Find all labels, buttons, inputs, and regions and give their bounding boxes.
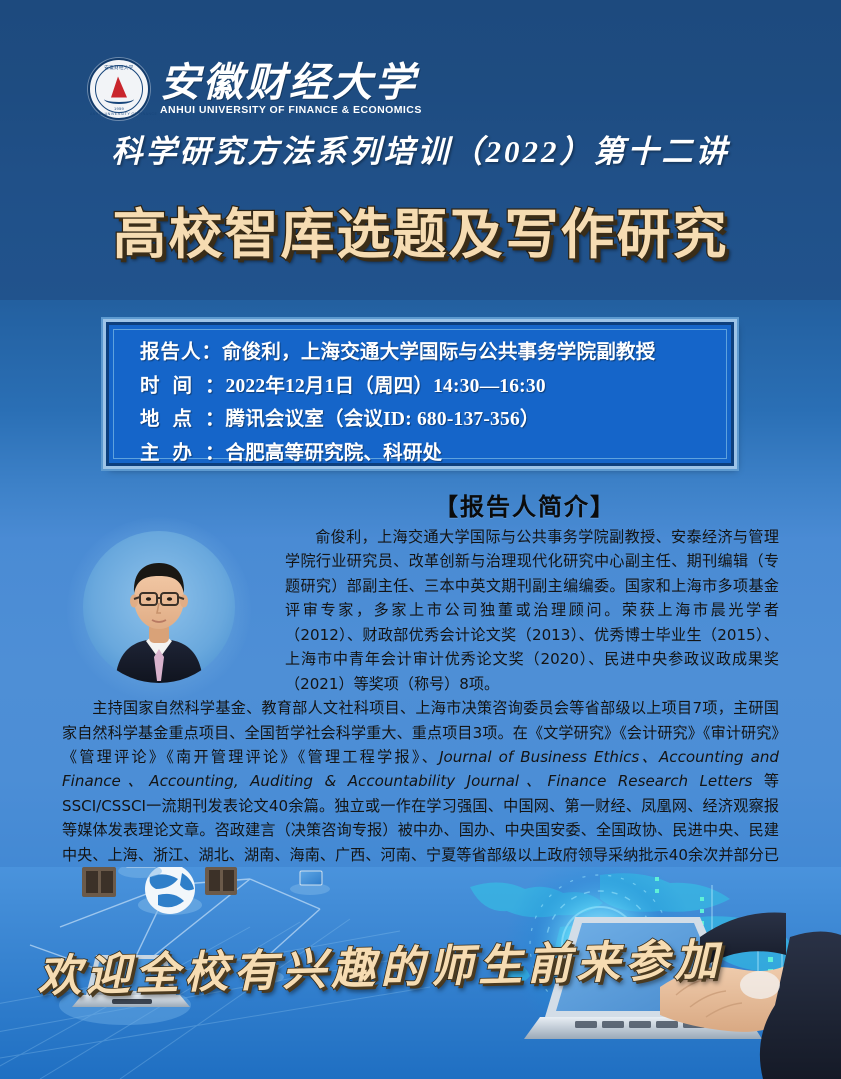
page-title: 高校智库选题及写作研究 <box>0 190 841 269</box>
bio-section-heading: 【报告人简介】 <box>295 487 755 522</box>
detail-label-organizer: 主办 <box>140 444 205 464</box>
university-crest-icon: 安徽财经大学 1959 ANHUI UNIVERSITY OF FINANCE <box>88 58 150 120</box>
bio-paragraph-2: 主持国家自然科学基金、教育部人文社科项目、上海市决策咨询委员会等省部级以上项目7… <box>62 696 779 892</box>
detail-value-speaker: 俞俊利，上海交通大学国际与公共事务学院副教授 <box>222 343 655 363</box>
detail-value-organizer: 合肥高等研究院、科研处 <box>226 444 443 464</box>
detail-row-speaker: 报告人 ： 俞俊利，上海交通大学国际与公共事务学院副教授 <box>140 343 726 363</box>
portrait-text-spacer <box>62 525 285 675</box>
series-title: 科学研究方法系列培训（2022）第十二讲 <box>0 126 841 171</box>
server-node-2 <box>205 867 237 895</box>
crest-year-text: 1959 <box>114 106 124 111</box>
event-details-inner: 报告人 ： 俞俊利，上海交通大学国际与公共事务学院副教授 时间 ： 2022年1… <box>113 329 727 459</box>
detail-colon-organizer: ： <box>205 444 225 464</box>
tech-network-graphic <box>0 867 841 1079</box>
detail-row-time: 时间 ： 2022年12月1日（周四）14:30—16:30 <box>140 377 726 397</box>
server-node <box>82 867 116 897</box>
detail-value-time: 2022年12月1日（周四）14:30—16:30 <box>226 377 546 397</box>
university-name-en: ANHUI UNIVERSITY OF FINANCE & ECONOMICS <box>160 105 422 116</box>
crest-arc-top-text: 安徽财经大学 <box>90 65 148 71</box>
university-logo: 安徽财经大学 1959 ANHUI UNIVERSITY OF FINANCE … <box>88 58 422 120</box>
event-details-box: 报告人 ： 俞俊利，上海交通大学国际与公共事务学院副教授 时间 ： 2022年1… <box>106 322 734 466</box>
speaker-bio: 俞俊利，上海交通大学国际与公共事务学院副教授、安泰经济与管理学院行业研究员、改革… <box>62 525 779 892</box>
detail-colon-speaker: ： <box>202 343 222 363</box>
university-name-block: 安徽财经大学 ANHUI UNIVERSITY OF FINANCE & ECO… <box>160 63 422 116</box>
crest-arc-bottom-text: ANHUI UNIVERSITY OF FINANCE <box>90 112 148 116</box>
detail-colon-time: ： <box>205 377 225 397</box>
lecture-poster: 安徽财经大学 1959 ANHUI UNIVERSITY OF FINANCE … <box>0 0 841 1079</box>
detail-label-speaker: 报告人 <box>140 343 202 363</box>
detail-label-location: 地点 <box>140 410 205 430</box>
bottom-tech-illustration <box>0 867 841 1079</box>
detail-row-location: 地点 ： 腾讯会议室（会议ID: 680-137-356） <box>140 410 726 430</box>
bio-paragraph-1-text: 上海交通大学国际与公共事务学院副教授、安泰经济与管理学院行业研究员、改革创新与治… <box>285 528 779 693</box>
detail-label-time: 时间 <box>140 377 205 397</box>
university-name-cn: 安徽财经大学 <box>160 63 422 103</box>
detail-value-location: 腾讯会议室（会议ID: 680-137-356） <box>226 410 540 430</box>
poster-header: 安徽财经大学 1959 ANHUI UNIVERSITY OF FINANCE … <box>0 0 841 300</box>
detail-colon-location: ： <box>205 410 225 430</box>
crest-wave-shape <box>104 94 134 104</box>
detail-row-organizer: 主办 ： 合肥高等研究院、科研处 <box>140 444 726 464</box>
speaker-name: 俞俊利， <box>315 528 377 546</box>
